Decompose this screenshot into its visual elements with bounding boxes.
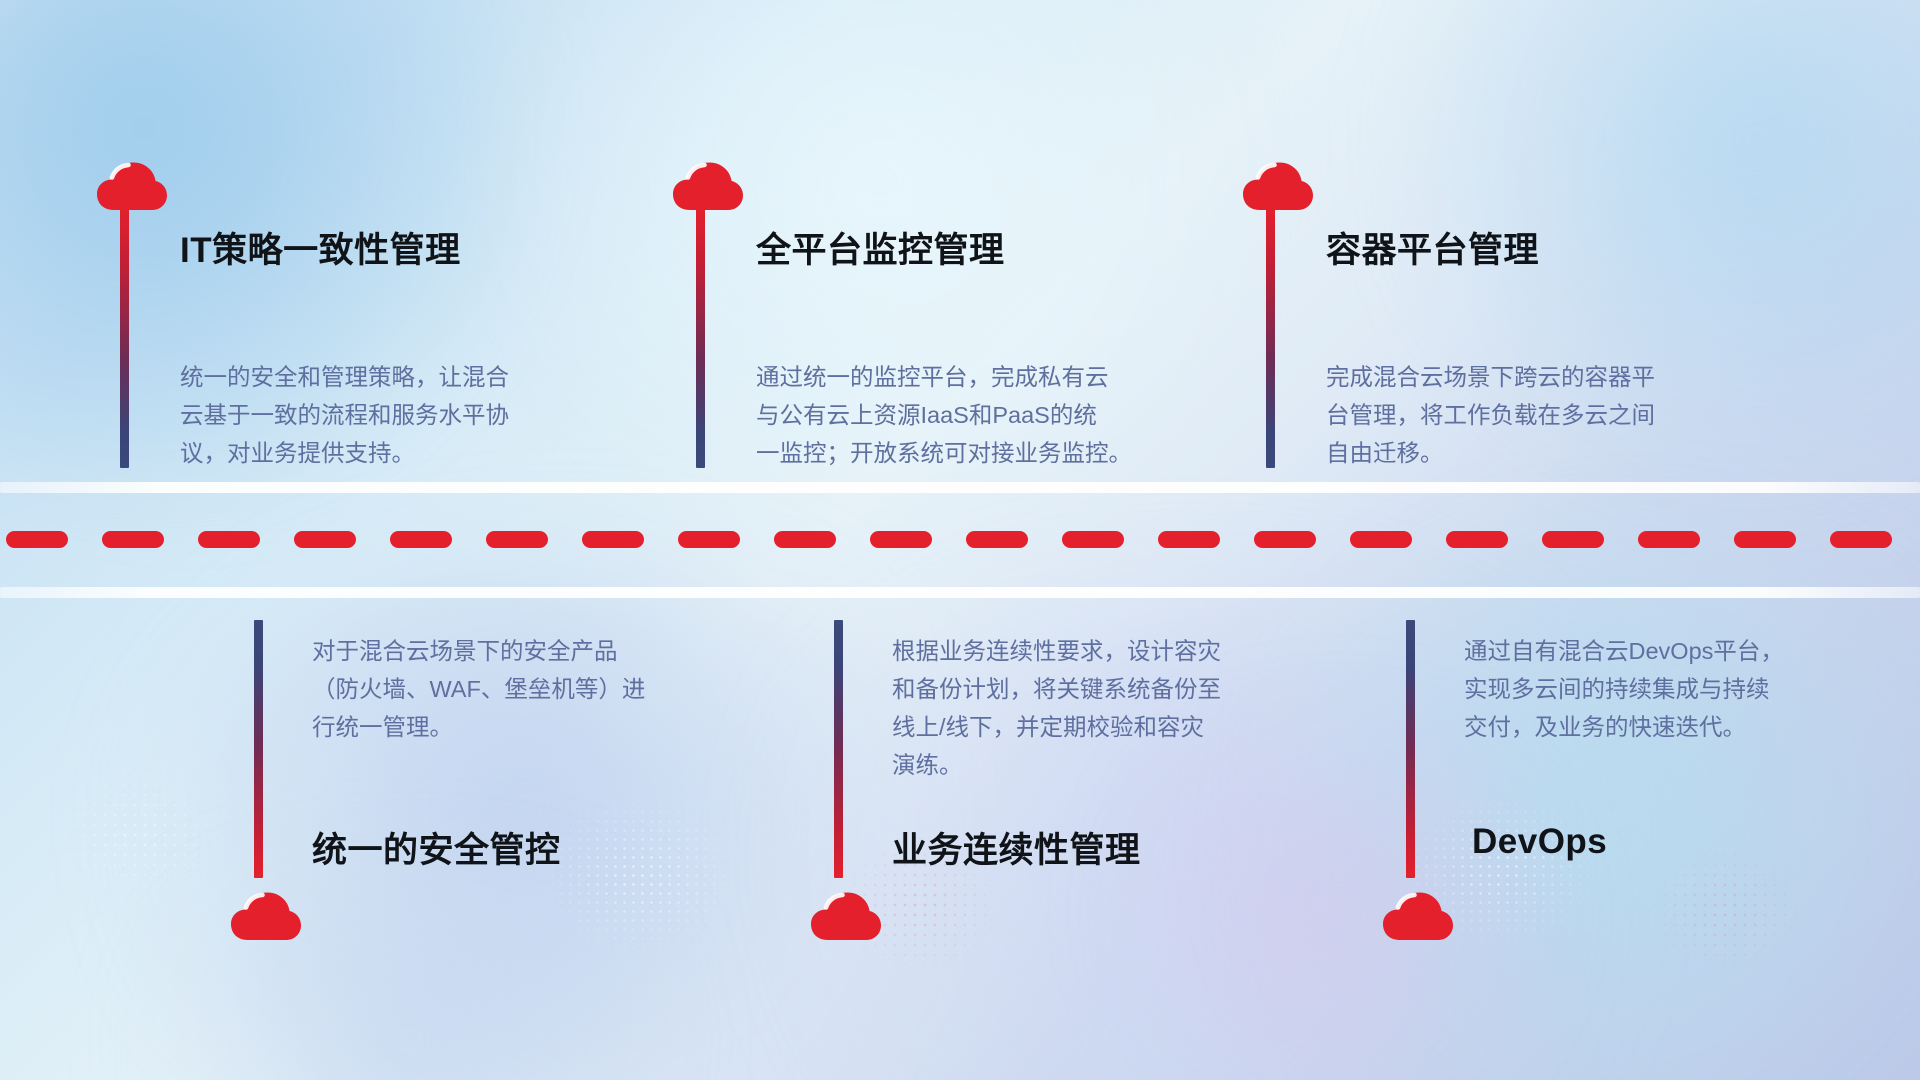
road-dash	[678, 531, 740, 548]
road-dash	[198, 531, 260, 548]
road-dash	[1830, 531, 1892, 548]
road-dash	[486, 531, 548, 548]
road-center-dashes	[0, 531, 1920, 548]
road-dash	[102, 531, 164, 548]
bottom-heading-2: 业务连续性管理	[892, 822, 1141, 873]
road-dash	[390, 531, 452, 548]
top-body-2: 通过统一的监控平台，完成私有云 与公有云上资源IaaS和PaaS的统 一监控；开…	[756, 358, 1226, 472]
top-heading-3: 容器平台管理	[1326, 222, 1539, 273]
infographic-canvas: IT策略一致性管理 统一的安全和管理策略，让混合 云基于一致的流程和服务水平协 …	[0, 0, 1920, 1080]
road-dash	[1638, 531, 1700, 548]
background-blob	[60, 880, 760, 1080]
road-edge-top	[0, 482, 1920, 493]
road-dash	[1254, 531, 1316, 548]
road-dash	[1542, 531, 1604, 548]
cloud-pin-icon	[810, 890, 882, 944]
road-edge-bottom	[0, 587, 1920, 598]
cloud-pin-icon	[1382, 890, 1454, 944]
cloud-pin-icon	[96, 160, 168, 214]
road-dash	[6, 531, 68, 548]
road-dash	[1446, 531, 1508, 548]
top-body-3: 完成混合云场景下跨云的容器平 台管理，将工作负载在多云之间 自由迁移。	[1326, 358, 1776, 472]
dot-texture	[40, 760, 240, 910]
road-dash	[1734, 531, 1796, 548]
dot-texture	[1640, 840, 1810, 980]
road-dash	[582, 531, 644, 548]
bottom-heading-3: DevOps	[1472, 822, 1607, 862]
road-dash	[966, 531, 1028, 548]
road-dash	[1350, 531, 1412, 548]
road-dash	[294, 531, 356, 548]
top-heading-2: 全平台监控管理	[756, 222, 1005, 273]
road-dash	[774, 531, 836, 548]
bottom-body-2: 根据业务连续性要求，设计容灾 和备份计划，将关键系统备份至 线上/线下，并定期校…	[892, 632, 1332, 784]
bottom-body-3: 通过自有混合云DevOps平台， 实现多云间的持续集成与持续 交付，及业务的快速…	[1464, 632, 1904, 746]
bottom-body-1: 对于混合云场景下的安全产品 （防火墙、WAF、堡垒机等）进 行统一管理。	[312, 632, 742, 746]
road-divider	[0, 482, 1920, 598]
cloud-pin-icon	[230, 890, 302, 944]
cloud-pin-icon	[672, 160, 744, 214]
road-dash	[870, 531, 932, 548]
dot-texture	[530, 790, 750, 960]
bottom-heading-1: 统一的安全管控	[312, 822, 561, 873]
road-dash	[1062, 531, 1124, 548]
top-body-1: 统一的安全和管理策略，让混合 云基于一致的流程和服务水平协 议，对业务提供支持。	[180, 358, 620, 472]
top-heading-1: IT策略一致性管理	[180, 222, 461, 273]
road-dash	[1158, 531, 1220, 548]
background-blob	[1260, 540, 1920, 1080]
cloud-pin-icon	[1242, 160, 1314, 214]
